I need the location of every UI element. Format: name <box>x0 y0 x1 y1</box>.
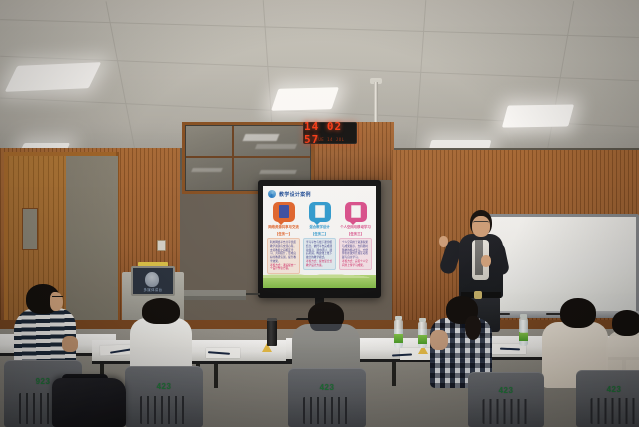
ceiling-light-1 <box>5 62 102 92</box>
door-vision-panel <box>22 208 38 250</box>
attendee-5-head <box>560 298 596 328</box>
column-2-tag: 【任务二】 <box>311 232 328 237</box>
water-bottle-4[interactable] <box>520 320 528 346</box>
water-bottle-1[interactable] <box>394 320 403 348</box>
chair-center-slots <box>303 397 351 424</box>
column-2-heading: 混合教学设计 <box>309 225 329 230</box>
column-2-highlight: 考核方式：提交混合式教学设计方案。 <box>306 260 333 268</box>
chair-right-center[interactable]: 423 <box>468 372 544 427</box>
attendee-4-arm <box>430 330 448 350</box>
phone-bubble-icon <box>345 202 367 222</box>
wall-led-clock: 14 02 57 TUE 14 JUL <box>303 122 357 144</box>
ceiling-light-2 <box>271 87 339 111</box>
chair-center[interactable]: 423 <box>288 368 366 427</box>
presenter-right-hand <box>481 255 491 267</box>
shoulder-bag[interactable] <box>52 378 126 427</box>
thermos-flask-2[interactable] <box>267 318 277 346</box>
slide-footer-graphic <box>263 275 376 288</box>
presenter-glasses <box>473 221 489 225</box>
slide-logo-icon <box>268 190 276 198</box>
podium-cable <box>246 293 260 295</box>
attendee-1-arm <box>62 336 78 352</box>
column-1-highlight: 考核方式：课后提交一个设计作业方案。 <box>270 264 297 272</box>
university-crest-icon <box>145 272 159 287</box>
chair-right[interactable]: 423 <box>576 370 639 427</box>
podium-shelf-under <box>184 296 246 300</box>
slide-column-1: 网络资源共享与交流 【任务一】 利用网络平台共享优质教学资源与交流心得，支持教师… <box>267 202 300 274</box>
attendee-3-collar <box>310 324 342 331</box>
column-3-body: 个人空间用于资源积累与成果展示，支持随时随地的移动学习，方便师生在课外开展互动答… <box>339 238 372 270</box>
clock-time: 14 02 57 <box>304 120 356 146</box>
chair-right-center-number: 423 <box>468 386 544 395</box>
book-bubble-icon <box>273 202 295 222</box>
ceiling-light-3 <box>502 104 574 127</box>
attendee-1-face <box>50 292 63 311</box>
light-switch[interactable] <box>157 240 166 251</box>
door-opening <box>66 156 118 328</box>
water-bottle-2[interactable] <box>418 322 427 348</box>
presenter-left-hand <box>439 236 448 247</box>
table-leg-5 <box>392 362 396 386</box>
column-1-heading: 网络资源共享与交流 <box>268 225 299 230</box>
chair-right-number: 423 <box>576 385 639 394</box>
column-3-heading: 个人空间与移动学习 <box>340 225 371 230</box>
chair-right-slots <box>590 398 637 424</box>
screen-bubble-icon <box>309 202 331 222</box>
attendee-6-head <box>612 310 639 336</box>
column-1-body: 利用网络平台共享优质教学资源与交流心得，支持教师之间相互学习、共同提升，形成良好… <box>267 238 300 274</box>
slide-columns: 网络资源共享与交流 【任务一】 利用网络平台共享优质教学资源与交流心得，支持教师… <box>267 202 372 274</box>
presenter-belt-buckle <box>474 291 482 299</box>
classroom-photo: 14 02 57 TUE 14 JUL 教学设计案例 网络资源共享与交流 【任 <box>0 0 639 427</box>
slide-title: 教学设计案例 <box>279 191 311 198</box>
podium-monitor-caption: 多媒体讲台 <box>133 287 173 292</box>
column-3-text: 个人空间用于资源积累与成果展示，支持随时随地的移动学习，方便师生在课外开展互动答… <box>342 241 369 260</box>
chair-left-center[interactable]: 423 <box>125 366 203 427</box>
attendee-4-ponytail <box>465 316 481 340</box>
slide-header: 教学设计案例 <box>268 190 311 198</box>
table-leg-4 <box>214 364 218 388</box>
column-3-tag: 【任务三】 <box>347 232 364 237</box>
column-2-body: 学习平台与线下课堂相结合，依托平台完成课前预习、课中研讨、课后巩固，构建线上线下… <box>303 238 336 270</box>
chair-right-center-slots <box>482 399 529 424</box>
column-2-text: 学习平台与线下课堂相结合，依托平台完成课前预习、课中研讨、课后巩固，构建线上线下… <box>306 241 333 260</box>
slide-column-3: 个人空间与移动学习 【任务三】 个人空间用于资源积累与成果展示，支持随时随地的移… <box>339 202 372 274</box>
clock-date: TUE 14 JUL <box>304 137 356 142</box>
column-3-highlight: 考核方式：完善个人空间并上传学习成果。 <box>342 260 369 268</box>
slide-column-2: 混合教学设计 【任务二】 学习平台与线下课堂相结合，依托平台完成课前预习、课中研… <box>303 202 336 274</box>
presenter-face <box>472 216 490 237</box>
slide-canvas: 教学设计案例 网络资源共享与交流 【任务一】 利用网络平台共享优质教学资源与交流… <box>263 186 376 288</box>
chair-left-center-number: 423 <box>125 382 203 391</box>
chair-left-center-slots <box>140 396 188 424</box>
column-1-tag: 【任务一】 <box>275 232 292 237</box>
attendee-1-glasses <box>52 296 63 299</box>
presentation-display[interactable]: 教学设计案例 网络资源共享与交流 【任务一】 利用网络平台共享优质教学资源与交流… <box>258 180 381 298</box>
chair-center-number: 423 <box>288 383 366 392</box>
attendee-2-head <box>142 298 180 324</box>
column-1-text: 利用网络平台共享优质教学资源与交流心得，支持教师之间相互学习、共同提升，形成良好… <box>270 241 297 264</box>
